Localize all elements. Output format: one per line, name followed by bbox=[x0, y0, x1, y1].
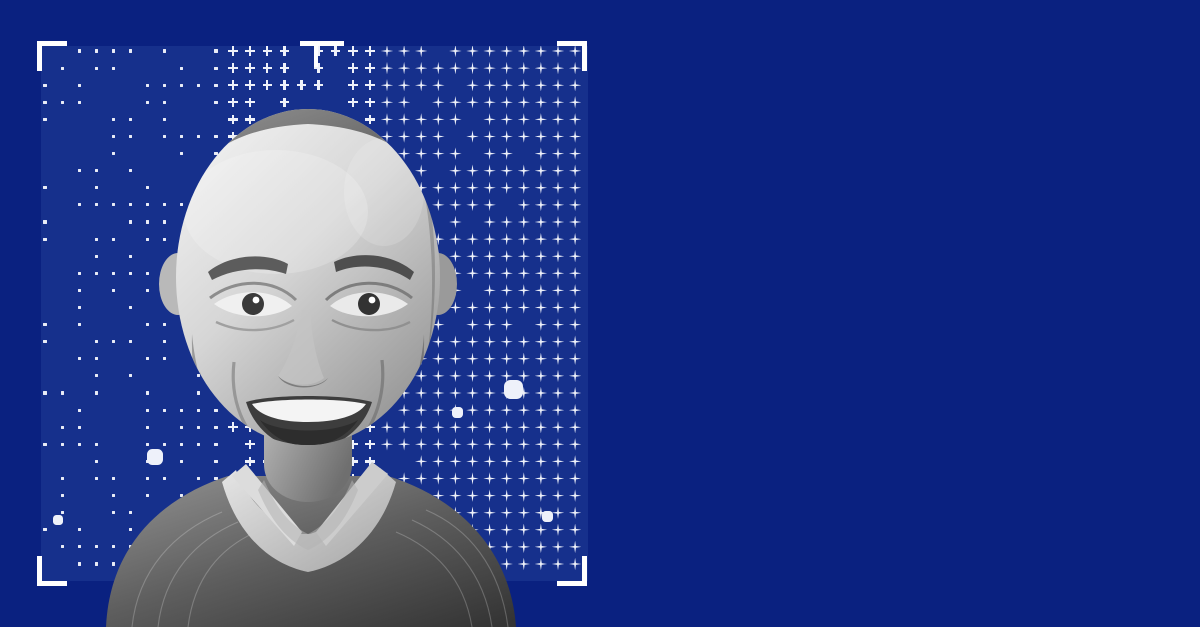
corner-bracket-bottom-left-icon bbox=[37, 556, 67, 586]
corner-bracket-top-left-icon bbox=[37, 41, 67, 71]
portrait-photo bbox=[96, 72, 526, 627]
pattern-accent-blob bbox=[542, 511, 553, 522]
corner-bracket-top-right-icon bbox=[557, 41, 587, 71]
quote-card: That’s when we realized: AI doesn’t just… bbox=[0, 0, 1200, 627]
portrait-panel bbox=[0, 0, 612, 627]
pattern-accent-blob bbox=[53, 515, 63, 525]
tick-top-center-icon bbox=[314, 41, 318, 67]
corner-bracket-bottom-right-icon bbox=[557, 556, 587, 586]
content-panel: That’s when we realized: AI doesn’t just… bbox=[612, 0, 1200, 627]
tick-top-center-bar-icon bbox=[300, 41, 344, 46]
